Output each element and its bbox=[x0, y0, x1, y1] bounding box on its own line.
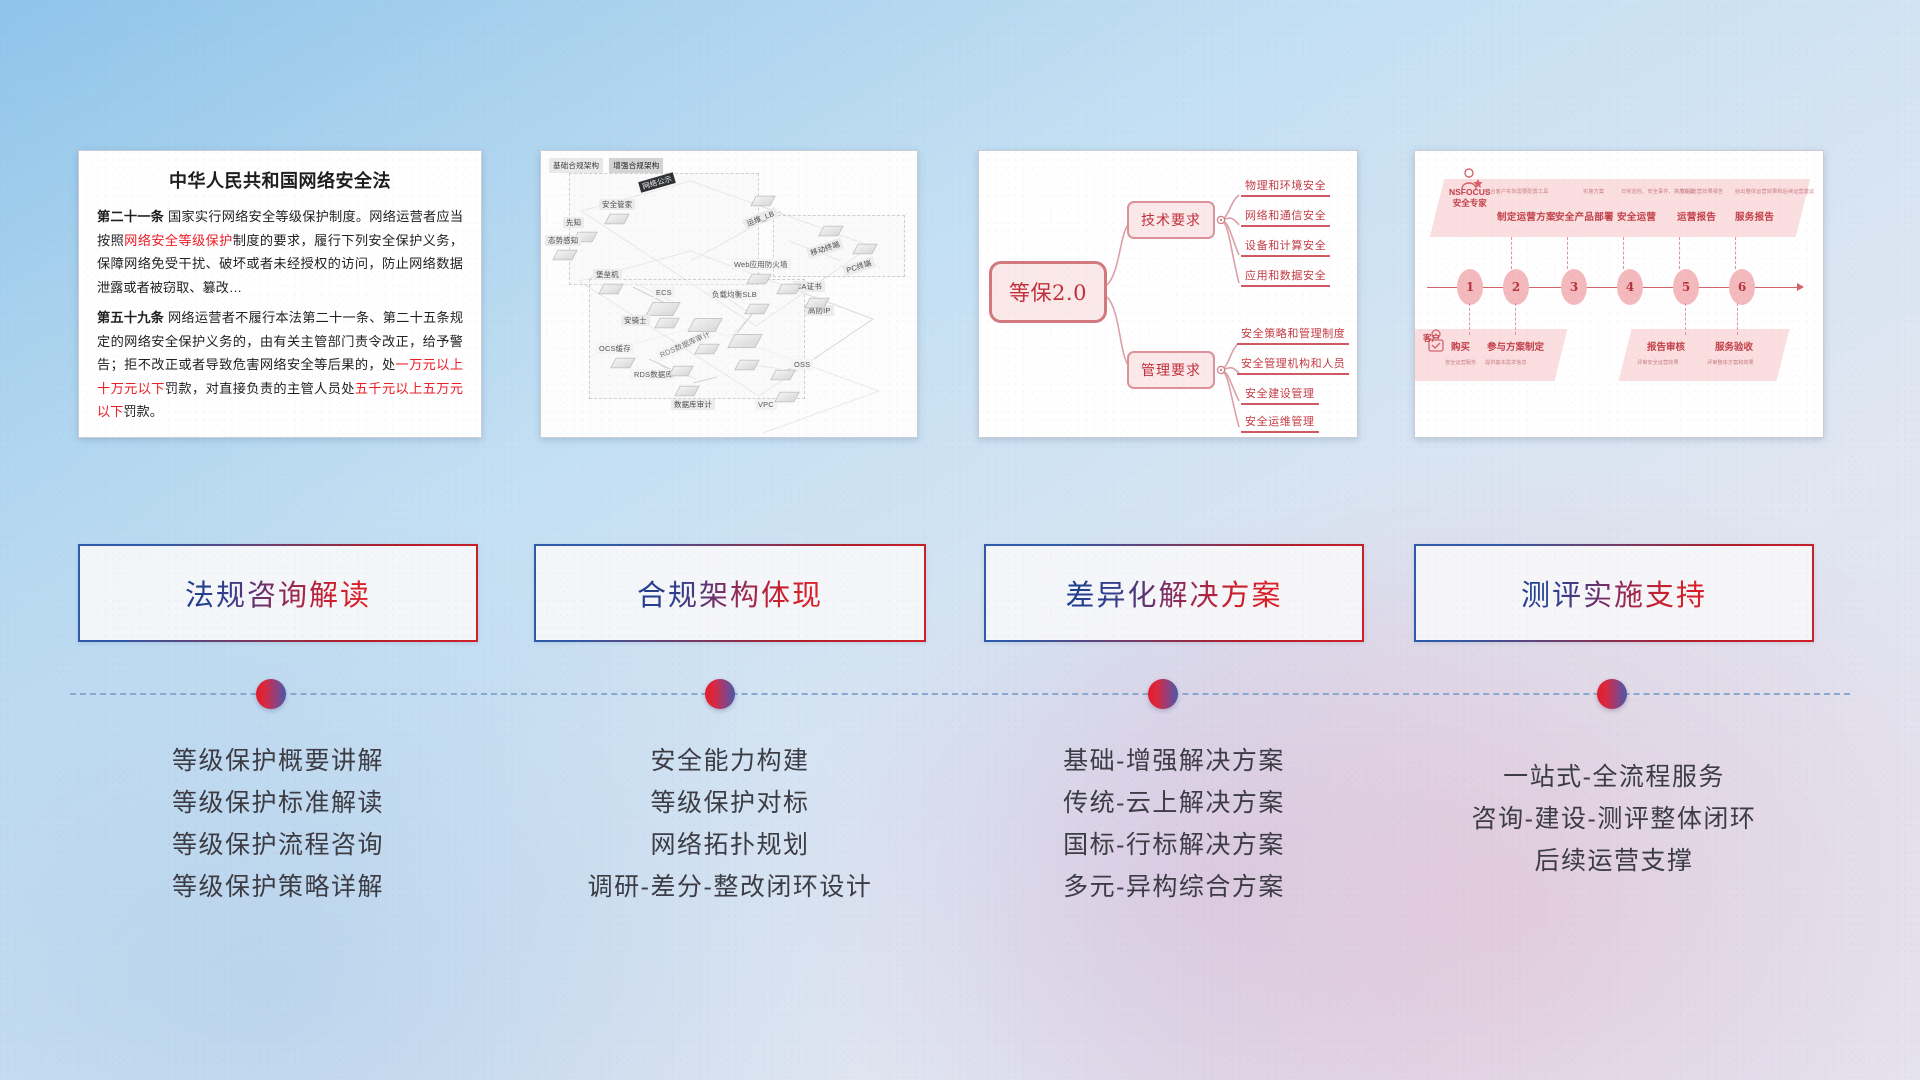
mindmap-leaf-mgmt-1: 安全策略和管理制度 bbox=[1237, 325, 1349, 345]
list-item: 后续运营支撑 bbox=[1414, 840, 1814, 882]
list-item: 基础-增强解决方案 bbox=[984, 740, 1364, 782]
list-item: 传统-云上解决方案 bbox=[984, 782, 1364, 824]
list-item: 安全能力构建 bbox=[534, 740, 926, 782]
label-row: 法规咨询解读 合规架构体现 差异化解决方案 测评实施支持 bbox=[0, 544, 1920, 642]
bullet-column-4: 一站式-全流程服务 咨询-建设-测评整体闭环 后续运营支撑 bbox=[1414, 756, 1814, 882]
top-step-5-sub: 给出整体运营效果和后续运营建议 bbox=[1735, 188, 1814, 195]
card-mindmap[interactable]: 等保2.0 技术要求 管理要求 物理和环境安全 网络和通信安全 设备和计算安全 … bbox=[978, 150, 1358, 438]
law-article-59-text-mid: 罚款，对直接负责的主管人员处 bbox=[165, 381, 355, 396]
label-text-2: 合规架构体现 bbox=[637, 572, 823, 614]
arch-node-security-butler: 安全管家 bbox=[599, 199, 635, 210]
bottom-step-1-main: 购买 bbox=[1451, 339, 1470, 353]
arch-node-xianzhi: 先知 bbox=[563, 217, 584, 228]
law-article-21: 第二十一条 国家实行网络安全等级保护制度。网络运营者应当按照网络安全等级保护制度… bbox=[97, 205, 463, 299]
expert-label-line2: 安全专家 bbox=[1449, 198, 1491, 209]
mindmap-leaf-tech-2: 网络和通信安全 bbox=[1241, 207, 1330, 227]
arch-node-db-audit: 数据库审计 bbox=[671, 399, 715, 410]
card-service-timeline[interactable]: NSFOCUS 安全专家 结合客户实际需要配置工具 制定运营方案 实施方案 安全… bbox=[1414, 150, 1824, 438]
list-item: 等级保护标准解读 bbox=[78, 782, 478, 824]
timeline-connector bbox=[0, 693, 1920, 695]
arch-node-anqishi: 安骑士 bbox=[621, 315, 650, 326]
timeline-node-3[interactable]: 3 bbox=[1561, 269, 1587, 305]
timeline-dot-2[interactable] bbox=[705, 679, 735, 709]
label-box-compliance-architecture[interactable]: 合规架构体现 bbox=[534, 544, 926, 642]
law-article-59: 第五十九条 网络运营者不履行本法第二十一条、第二十五条规定的网络安全保护义务的，… bbox=[97, 306, 463, 424]
top-step-1-main: 制定运营方案 bbox=[1497, 209, 1556, 223]
mindmap-leaf-tech-4: 应用和数据安全 bbox=[1241, 267, 1330, 287]
timeline-node-2[interactable]: 2 bbox=[1503, 269, 1529, 305]
timeline-node-4[interactable]: 4 bbox=[1617, 269, 1643, 305]
bottom-step-3-sub: 评审安全运营效果 bbox=[1637, 359, 1679, 366]
arch-node-ocs-cache: OCS缓存 bbox=[596, 343, 634, 354]
list-item: 等级保护概要讲解 bbox=[78, 740, 478, 782]
arch-node-oss: OSS bbox=[791, 359, 813, 370]
customer-label: 客户 bbox=[1423, 333, 1440, 344]
top-step-5-main: 服务报告 bbox=[1735, 209, 1774, 223]
card-row: 中华人民共和国网络安全法 第二十一条 国家实行网络安全等级保护制度。网络运营者应… bbox=[0, 150, 1920, 440]
law-article-59-label: 第五十九条 bbox=[97, 310, 164, 325]
mindmap-leaf-mgmt-2: 安全管理机构和人员 bbox=[1237, 355, 1349, 375]
timeline-node-6[interactable]: 6 bbox=[1729, 269, 1755, 305]
top-step-4-main: 运营报告 bbox=[1677, 209, 1716, 223]
mindmap-branch-technical: 技术要求 bbox=[1127, 201, 1215, 239]
mindmap-leaf-mgmt-3: 安全建设管理 bbox=[1241, 385, 1319, 405]
list-item: 一站式-全流程服务 bbox=[1414, 756, 1814, 798]
label-text-4: 测评实施支持 bbox=[1521, 572, 1707, 614]
timeline-dot-1[interactable] bbox=[256, 679, 286, 709]
mindmap-leaf-tech-1: 物理和环境安全 bbox=[1241, 177, 1330, 197]
arch-node-bastion-host: 堡垒机 bbox=[593, 269, 622, 280]
bottom-step-2-main: 参与方案制定 bbox=[1487, 339, 1544, 353]
card-law-text[interactable]: 中华人民共和国网络安全法 第二十一条 国家实行网络安全等级保护制度。网络运营者应… bbox=[78, 150, 482, 438]
arch-node-vpc: VPC bbox=[755, 399, 777, 410]
timeline-canvas: NSFOCUS 安全专家 结合客户实际需要配置工具 制定运营方案 实施方案 安全… bbox=[1415, 151, 1823, 437]
slide-canvas: 中华人民共和国网络安全法 第二十一条 国家实行网络安全等级保护制度。网络运营者应… bbox=[0, 0, 1920, 1080]
card-architecture-diagram[interactable]: 基础合规架构 增强合规架构 bbox=[540, 150, 918, 438]
law-article-21-highlight: 网络安全等级保护 bbox=[124, 233, 233, 248]
law-title: 中华人民共和国网络安全法 bbox=[97, 167, 463, 193]
list-item: 国标-行标解决方案 bbox=[984, 824, 1364, 866]
list-item: 等级保护策略详解 bbox=[78, 866, 478, 908]
mindmap-canvas: 等保2.0 技术要求 管理要求 物理和环境安全 网络和通信安全 设备和计算安全 … bbox=[979, 151, 1357, 437]
arch-node-ecs: ECS bbox=[653, 287, 675, 298]
timeline-dot-4[interactable] bbox=[1597, 679, 1627, 709]
bottom-step-4-main: 服务验收 bbox=[1715, 339, 1753, 353]
bullet-column-2: 安全能力构建 等级保护对标 网络拓扑规划 调研-差分-整改闭环设计 bbox=[534, 740, 926, 908]
list-item: 调研-差分-整改闭环设计 bbox=[534, 866, 926, 908]
timeline-arrow-icon bbox=[1797, 283, 1804, 291]
bottom-step-3-main: 报告审核 bbox=[1647, 339, 1685, 353]
timeline-node-5[interactable]: 5 bbox=[1673, 269, 1699, 305]
mindmap-leaf-tech-3: 设备和计算安全 bbox=[1241, 237, 1330, 257]
timeline-dot-3[interactable] bbox=[1148, 679, 1178, 709]
law-article-21-label: 第二十一条 bbox=[97, 209, 164, 224]
list-item: 多元-异构综合方案 bbox=[984, 866, 1364, 908]
top-step-4-sub: 阶段运营效果报告 bbox=[1681, 188, 1723, 195]
mindmap-root-node: 等保2.0 bbox=[989, 261, 1107, 323]
arch-node-waf: Web应用防火墙 bbox=[731, 259, 791, 270]
label-text-1: 法规咨询解读 bbox=[185, 572, 371, 614]
mindmap-leaf-mgmt-4: 安全运维管理 bbox=[1241, 413, 1319, 433]
bottom-step-4-sub: 评审整体方案和效果 bbox=[1707, 359, 1754, 366]
list-item: 网络拓扑规划 bbox=[534, 824, 926, 866]
bullet-column-1: 等级保护概要讲解 等级保护标准解读 等级保护流程咨询 等级保护策略详解 bbox=[78, 740, 478, 908]
bottom-step-1-sub: 安全运营服务 bbox=[1445, 359, 1476, 366]
label-box-regulation-consulting[interactable]: 法规咨询解读 bbox=[78, 544, 478, 642]
timeline-bottom-band-right bbox=[1619, 329, 1790, 381]
bottom-step-2-sub: 提供基本需求信息 bbox=[1485, 359, 1527, 366]
timeline-dashed-line bbox=[70, 693, 1850, 695]
top-step-2-main: 安全产品部署 bbox=[1555, 209, 1614, 223]
timeline-node-1[interactable]: 1 bbox=[1457, 269, 1483, 305]
label-box-differentiated-solution[interactable]: 差异化解决方案 bbox=[984, 544, 1364, 642]
top-step-1-sub: 结合客户实际需要配置工具 bbox=[1485, 188, 1548, 195]
list-item: 等级保护流程咨询 bbox=[78, 824, 478, 866]
mindmap-branch-management: 管理要求 bbox=[1127, 351, 1215, 389]
architecture-canvas: 基础合规架构 增强合规架构 bbox=[541, 151, 917, 437]
arch-node-situational-awareness: 态势感知 bbox=[545, 235, 581, 246]
bullet-column-3: 基础-增强解决方案 传统-云上解决方案 国标-行标解决方案 多元-异构综合方案 bbox=[984, 740, 1364, 908]
list-item: 咨询-建设-测评整体闭环 bbox=[1414, 798, 1814, 840]
law-content: 中华人民共和国网络安全法 第二十一条 国家实行网络安全等级保护制度。网络运营者应… bbox=[79, 151, 481, 438]
label-text-3: 差异化解决方案 bbox=[1065, 572, 1282, 614]
top-step-3-main: 安全运营 bbox=[1617, 209, 1656, 223]
list-item: 等级保护对标 bbox=[534, 782, 926, 824]
label-box-assessment-support[interactable]: 测评实施支持 bbox=[1414, 544, 1814, 642]
law-article-59-text-b: 罚款。 bbox=[123, 404, 163, 419]
top-step-2-sub: 实施方案 bbox=[1583, 188, 1604, 195]
arch-node-slb: 负载均衡SLB bbox=[709, 289, 760, 300]
